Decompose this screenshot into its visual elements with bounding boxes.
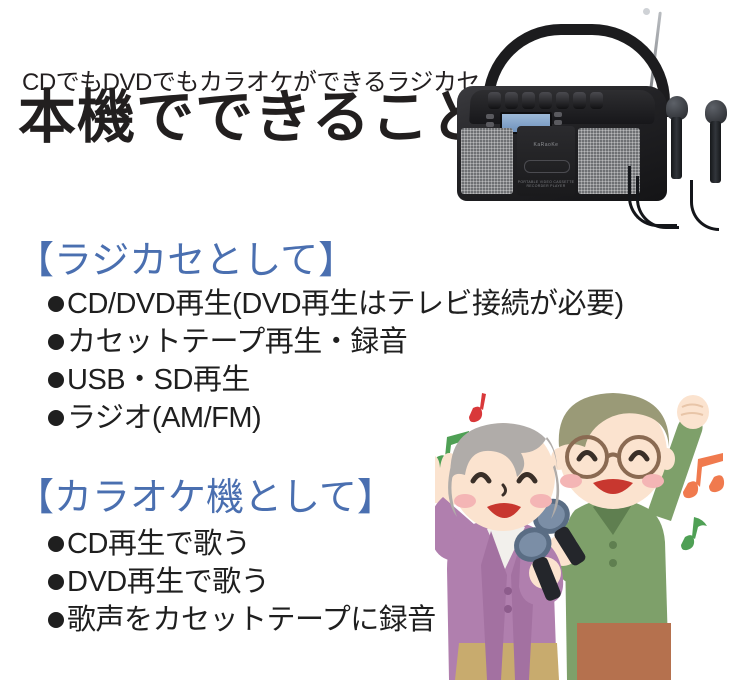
list-item-label: 歌声をカセットテープに録音	[67, 604, 436, 636]
bullet-dot-icon	[48, 372, 64, 388]
cassette-door	[524, 160, 570, 173]
bullet-dot-icon	[48, 296, 64, 312]
bullet-dot-icon	[48, 536, 64, 552]
man-ear	[659, 448, 675, 470]
woman-button	[504, 605, 512, 613]
list-item: CD再生で歌う	[48, 525, 436, 563]
woman-blush	[530, 494, 552, 508]
product-brand-label: KaRaoKe	[524, 142, 568, 148]
control-knob	[590, 92, 603, 109]
list-item: カセットテープ再生・録音	[48, 323, 624, 361]
woman-button	[504, 587, 512, 595]
control-knob	[522, 92, 535, 109]
panel-button	[554, 120, 562, 125]
bullet-dot-icon	[48, 334, 64, 350]
list-item-label: カセットテープ再生・録音	[67, 326, 407, 358]
panel-button	[554, 112, 562, 117]
product-photo-boombox: KaRaoKe PORTABLE VIDEO CASSETTE RECORDER…	[440, 8, 750, 233]
man-button	[609, 559, 617, 567]
bullet-dot-icon	[48, 612, 64, 628]
panel-button	[486, 114, 494, 119]
microphone-body	[710, 121, 721, 183]
man-button	[609, 541, 617, 549]
man-blush	[560, 474, 582, 488]
speaker-grille-left	[461, 128, 513, 194]
control-knob	[539, 92, 552, 109]
product-model-label: PORTABLE VIDEO CASSETTE RECORDER PLAYER	[516, 180, 576, 188]
list-item-label: CD/DVD再生(DVD再生はテレビ接続が必要)	[67, 288, 624, 320]
list-item: DVD再生で歌う	[48, 563, 436, 601]
feature-list-karaoke: CD再生で歌う DVD再生で歌う 歌声をカセットテープに録音	[48, 525, 436, 639]
antenna-tip-icon	[643, 8, 650, 15]
section-heading-karaoke: 【カラオケ機として】	[16, 466, 395, 521]
page-title: 本機でできること	[18, 88, 489, 149]
control-knob	[505, 92, 518, 109]
promo-page: CDでもDVDでもカラオケができるラジカセ 本機でできること KaRaoKe P…	[0, 0, 750, 680]
list-item: 歌声をカセットテープに録音	[48, 601, 436, 639]
list-item-label: USB・SD再生	[67, 364, 250, 396]
illustration-elderly-couple-singing	[435, 385, 750, 680]
list-item-label: CD再生で歌う	[67, 528, 250, 560]
microphone-cable	[690, 180, 719, 231]
bullet-dot-icon	[48, 410, 64, 426]
music-note-red-icon	[469, 393, 486, 422]
microphone-cable	[628, 166, 677, 227]
panel-button	[486, 122, 494, 127]
figure-elderly-woman	[435, 423, 572, 680]
section-heading-radio-cassette: 【ラジカセとして】	[16, 229, 356, 284]
list-item-label: DVD再生で歌う	[67, 566, 269, 598]
list-item: CD/DVD再生(DVD再生はテレビ接続が必要)	[48, 285, 624, 323]
control-knob	[488, 92, 501, 109]
man-fist	[677, 395, 709, 429]
control-knob	[556, 92, 569, 109]
music-note-green-small-icon	[681, 517, 707, 550]
man-pants	[577, 623, 671, 680]
bullet-dot-icon	[48, 574, 64, 590]
control-knob	[573, 92, 586, 109]
list-item-label: ラジオ(AM/FM)	[67, 402, 261, 434]
man-blush	[642, 474, 664, 488]
woman-skirt	[455, 643, 559, 680]
woman-blush	[454, 494, 476, 508]
